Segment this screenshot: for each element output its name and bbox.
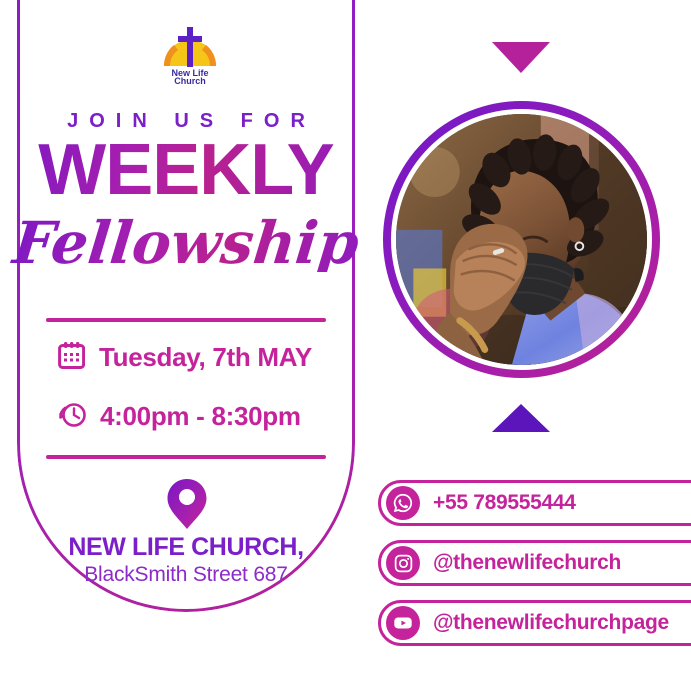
contact-label: @thenewlifechurch [433,551,621,575]
location-pin-icon [166,478,208,530]
page-title: WEEKLY [0,133,372,209]
venue-address: BlackSmith Street 687 [0,563,372,587]
church-logo: New Life Church [150,22,230,84]
divider-top [46,318,326,322]
time-row: 4:00pm - 8:30pm [58,400,301,433]
instagram-icon [386,546,420,580]
contact-instagram[interactable]: @thenewlifechurch [378,540,691,586]
date-row: Tuesday, 7th MAY [58,341,312,374]
contact-whatsapp[interactable]: +55 789555444 [378,480,691,526]
whatsapp-icon [386,486,420,520]
clock-icon [58,400,86,433]
flyer-canvas: New Life Church JOIN US FOR WEEKLY Fello… [0,0,691,691]
venue-name: NEW LIFE CHURCH, [0,533,372,562]
triangle-up-decor [492,404,550,432]
logo-text-line2: Church [174,76,206,84]
calendar-icon [58,341,85,374]
contact-label: @thenewlifechurchpage [433,611,669,635]
church-logo-mark: New Life Church [154,22,226,84]
contact-label: +55 789555444 [433,491,576,515]
photo-inner-ring [391,109,652,370]
event-date: Tuesday, 7th MAY [99,342,312,373]
triangle-down-decor [492,42,550,73]
contact-youtube[interactable]: @thenewlifechurchpage [378,600,691,646]
youtube-icon [386,606,420,640]
event-time: 4:00pm - 8:30pm [100,401,301,432]
script-title: Fellowship [0,214,375,272]
photo-ring [383,101,660,378]
praying-woman-photo [396,114,647,365]
divider-bottom [46,455,326,459]
